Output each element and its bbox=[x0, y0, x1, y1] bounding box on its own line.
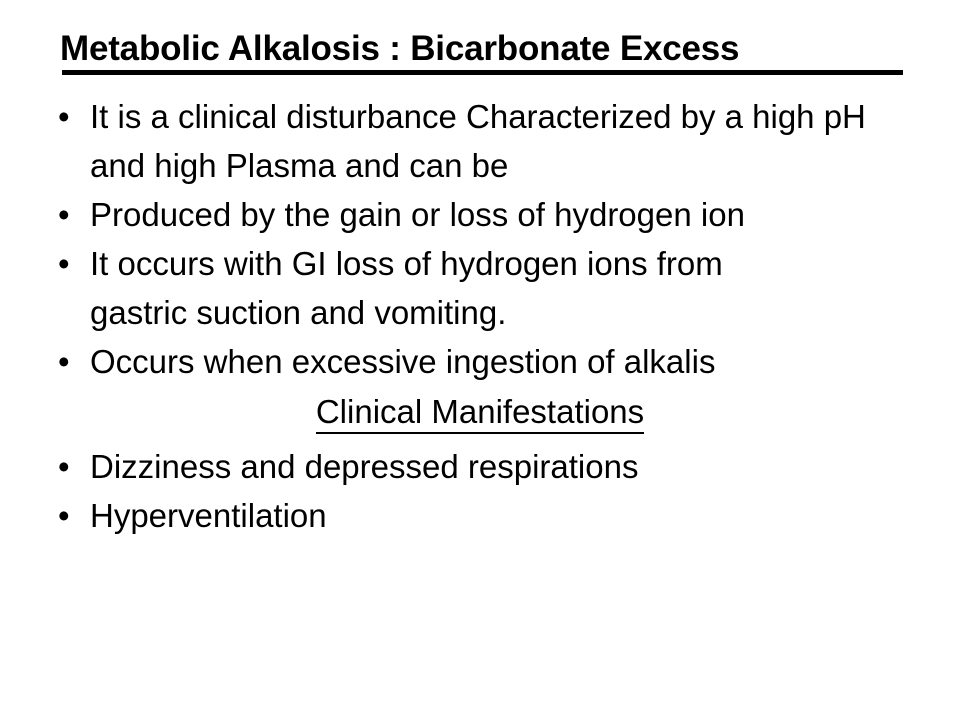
bullet-point-icon: • bbox=[58, 190, 78, 239]
section-heading-label: Clinical Manifestations bbox=[316, 393, 644, 430]
list-item: • Produced by the gain or loss of hydrog… bbox=[0, 190, 960, 239]
bullet-point-icon: • bbox=[58, 491, 78, 540]
section-heading: Clinical Manifestations bbox=[316, 388, 644, 434]
slide-canvas: Metabolic Alkalosis : Bicarbonate Excess… bbox=[0, 0, 960, 720]
list-item-label: Dizziness and depressed respirations bbox=[90, 442, 910, 491]
list-item: • Hyperventilation bbox=[0, 491, 960, 540]
bullet-point-icon: • bbox=[58, 442, 78, 491]
bullet-point-icon: • bbox=[58, 239, 78, 288]
page-title: Metabolic Alkalosis : Bicarbonate Excess bbox=[60, 28, 908, 70]
bullet-point-icon: • bbox=[58, 337, 78, 386]
list-item: • Dizziness and depressed respirations bbox=[0, 442, 960, 491]
slide-body: • It is a clinical disturbance Character… bbox=[0, 92, 960, 540]
list-item-label: It is a clinical disturbance Characteriz… bbox=[90, 92, 910, 190]
title-underline-rule bbox=[62, 70, 903, 75]
list-item: • Occurs when excessive ingestion of alk… bbox=[0, 337, 960, 386]
list-item: • It occurs with GI loss of hydrogen ion… bbox=[0, 239, 960, 337]
list-item-label: Produced by the gain or loss of hydrogen… bbox=[90, 190, 880, 239]
list-item-label: Hyperventilation bbox=[90, 491, 910, 540]
list-item: • It is a clinical disturbance Character… bbox=[0, 92, 960, 190]
list-item-label: It occurs with GI loss of hydrogen ions … bbox=[90, 239, 825, 337]
section-heading-row: Clinical Manifestations bbox=[0, 386, 960, 438]
bullet-point-icon: • bbox=[58, 92, 78, 141]
list-item-label: Occurs when excessive ingestion of alkal… bbox=[90, 337, 910, 386]
section-heading-underline-rule bbox=[316, 432, 644, 434]
